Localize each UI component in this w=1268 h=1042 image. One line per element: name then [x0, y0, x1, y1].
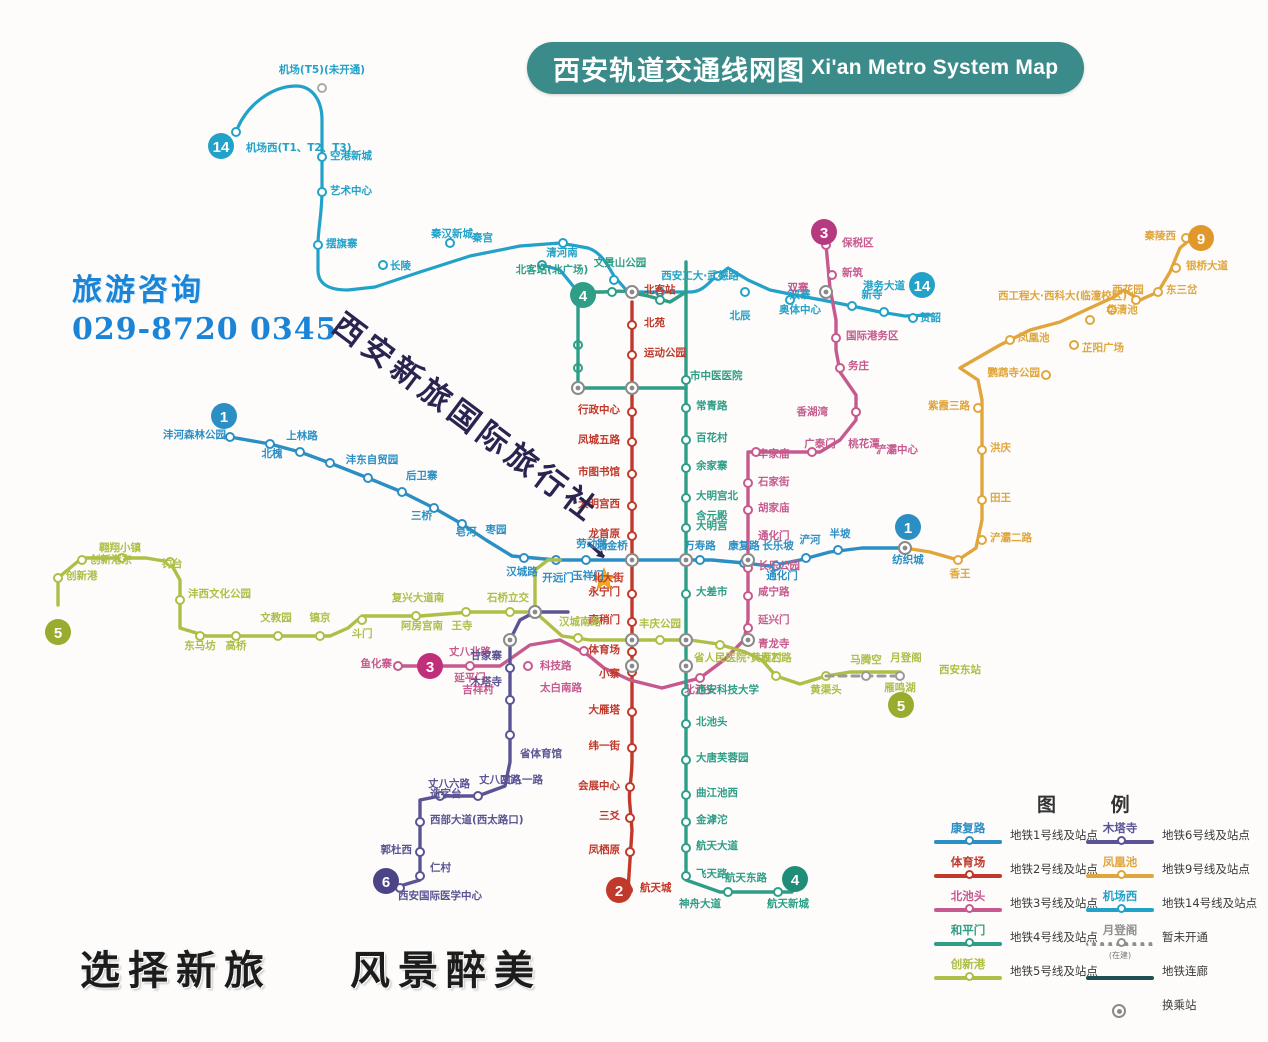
station-label: 雁鸣湖 — [840, 683, 960, 694]
station-label: 北苑 — [644, 318, 665, 329]
station-label: 曲江池西 — [696, 788, 738, 799]
station-label: 半坡 — [780, 529, 900, 540]
legend-sample-station-name: 月登阁 — [1084, 922, 1156, 938]
station-label: 浐灞二路 — [990, 533, 1032, 544]
map-title-en: Xi'an Metro System Map — [811, 56, 1058, 80]
station-label: 含元殿 — [696, 511, 728, 522]
station-label: 三爻 — [0, 811, 620, 822]
legend-station-dot — [965, 972, 974, 981]
station-label: 银桥大道 — [1186, 261, 1228, 272]
legend-line-sample: 北池头 — [932, 886, 1004, 920]
station-label: 丈八一路 — [462, 775, 582, 786]
station-label: 造字台 — [430, 789, 462, 800]
legend-description: 地铁连廊 — [1162, 963, 1208, 979]
station-label: 余家寨 — [696, 461, 728, 472]
station-label: 郭杜西 — [0, 845, 412, 856]
station-label: 大明宫北 — [696, 491, 738, 502]
station-label: 奥体中心 — [740, 305, 860, 316]
station-label: 秦陵西 — [0, 231, 1176, 242]
station-label: 航天城 — [640, 883, 672, 894]
legend-line-sample: 和平门 — [932, 920, 1004, 954]
station-label: 青龙寺 — [758, 639, 790, 650]
station-label: 太白南路 — [540, 683, 582, 694]
legend-row: 和平门地铁4号线及站点 — [932, 920, 1098, 954]
station-label: 贺韶 — [920, 313, 941, 324]
station-label: 沣西文化公园 — [188, 589, 251, 600]
station-label: 北池头 — [696, 717, 728, 728]
legend-row: 木塔寺地铁6号线及站点 — [1084, 818, 1257, 852]
legend-row: 换乘站 — [1084, 988, 1257, 1022]
station-label: 西安东站 — [900, 665, 1020, 676]
station-label: 胡家庙 — [758, 503, 790, 514]
legend-line-sample: 月登阁(在建) — [1084, 920, 1156, 954]
legend-description: 暂未开通 — [1162, 929, 1208, 945]
legend-description: 地铁14号线及站点 — [1162, 895, 1257, 911]
station-label: 东三岔 — [1166, 285, 1198, 296]
station-label: 科技路 — [540, 661, 572, 672]
station-label: 艺术中心 — [330, 186, 372, 197]
station-label: 大明宫西 — [0, 499, 620, 510]
station-label: 鹦鹉寺公园 — [0, 368, 1040, 379]
station-label: 龙首原 — [0, 529, 620, 540]
station-label: 丈八六路 — [0, 779, 470, 790]
station-label: 香王 — [900, 569, 1020, 580]
station-label: 钓台 — [112, 559, 232, 570]
station-label: 国际港务区 — [846, 331, 899, 342]
station-label: 纺织城 — [848, 555, 968, 566]
legend-station-dot — [1117, 836, 1126, 845]
legend-line-sample: 创新港 — [932, 954, 1004, 988]
legend-line-sample: 木塔寺 — [1084, 818, 1156, 852]
legend-row: 月登阁(在建)暂未开通 — [1084, 920, 1257, 954]
station-label: 航天大道 — [696, 841, 738, 852]
legend-row: 康复路地铁1号线及站点 — [932, 818, 1098, 852]
station-label: 通化门 — [758, 531, 790, 542]
station-label: 省体育馆 — [520, 749, 562, 760]
legend-sample-station-name: 和平门 — [932, 922, 1004, 938]
legend-column-left: 康复路地铁1号线及站点体育场地铁2号线及站点北池头地铁3号线及站点和平门地铁4号… — [932, 818, 1098, 988]
station-label: 机场(T5)(未开通) — [262, 65, 382, 76]
station-label: 通化门 — [722, 571, 842, 582]
legend-line-sample: 凤凰池 — [1084, 852, 1156, 886]
legend-station-dot — [1117, 904, 1126, 913]
station-label: 航天新城 — [728, 899, 848, 910]
transfer-station-icon — [1112, 1004, 1126, 1018]
station-label: 仁村 — [430, 863, 451, 874]
station-label: 延兴门 — [758, 615, 790, 626]
legend-description: 地铁9号线及站点 — [1162, 861, 1250, 877]
station-label: 北大街 — [548, 573, 668, 584]
tourist-info-label: 旅游咨询 — [72, 265, 338, 309]
legend-line-sample: 机场西 — [1084, 886, 1156, 920]
legend-row: 地铁连廊 — [1084, 954, 1257, 988]
station-label: 木塔寺 — [0, 677, 502, 688]
legend-row: 机场西地铁14号线及站点 — [1084, 886, 1257, 920]
station-label: 洪庆 — [990, 443, 1011, 454]
station-label: 文景山公园 — [560, 258, 680, 269]
station-label: 甘家寨 — [0, 651, 502, 662]
station-label: 凤凰池 — [1018, 333, 1050, 344]
legend-station-dot — [965, 904, 974, 913]
station-label: 航天东路 — [686, 873, 806, 884]
station-label: 石家街 — [758, 477, 790, 488]
legend-sample-station-name: 机场西 — [1084, 888, 1156, 904]
legend-station-dot — [965, 870, 974, 879]
station-label: 双寨 — [738, 283, 858, 294]
station-label: 大唐芙蓉园 — [696, 753, 749, 764]
station-label: 大明宫 — [696, 521, 728, 532]
legend-sample-station-name: 北池头 — [932, 888, 1004, 904]
legend-line-sample — [1084, 954, 1156, 988]
legend-row: 凤凰池地铁9号线及站点 — [1084, 852, 1257, 886]
legend-sample-station-name: 凤凰池 — [1084, 854, 1156, 870]
station-label: 空港新城 — [330, 151, 372, 162]
tourist-info-block: 旅游咨询 029-8720 0345 — [72, 265, 338, 347]
station-label: 阿房宫南 — [362, 621, 482, 632]
legend-row: 创新港地铁5号线及站点 — [932, 954, 1098, 988]
legend-description: 换乘站 — [1162, 997, 1197, 1013]
slogan-right: 风景醉美 — [350, 938, 542, 996]
station-label: 三桥 — [0, 511, 432, 522]
legend-station-dot — [1117, 870, 1126, 879]
station-label: 辛家庙 — [758, 449, 790, 460]
legend-description: 地铁6号线及站点 — [1162, 827, 1250, 843]
legend-line-sample — [1084, 988, 1156, 1022]
station-label: 西安工大·武德路 — [640, 271, 760, 282]
station-label: 运动公园 — [644, 348, 686, 359]
legend-sample-station-name: 体育场 — [932, 854, 1004, 870]
station-label: 月登阁 — [846, 653, 966, 664]
station-label: 沣东自贸园 — [312, 455, 432, 466]
station-label: 西安科技大学 — [696, 685, 759, 696]
station-label: 石桥立交 — [448, 593, 568, 604]
legend-row: 体育场地铁2号线及站点 — [932, 852, 1098, 886]
legend-column-right: 木塔寺地铁6号线及站点凤凰池地铁9号线及站点机场西地铁14号线及站点月登阁(在建… — [1084, 818, 1257, 1022]
station-label: 西部大道(西太路口) — [430, 815, 524, 826]
station-label: 金滹沱 — [696, 815, 728, 826]
station-label: 创新港 — [66, 571, 98, 582]
tourist-info-phone: 029-8720 0345 — [72, 312, 338, 347]
station-label: 华清池 — [1062, 305, 1182, 316]
station-label: 大雁塔 — [0, 705, 620, 716]
legend-title: 图 例 — [1037, 790, 1154, 817]
legend-line-swatch — [1086, 976, 1154, 980]
station-label: 百花村 — [696, 433, 728, 444]
station-label: 芷阳广场 — [1082, 343, 1124, 354]
station-label: 翱翔小镇 — [60, 543, 180, 554]
legend-line-sample: 体育场 — [932, 852, 1004, 886]
line-9-stations — [954, 234, 1190, 564]
legend-sample-station-name: 康复路 — [932, 820, 1004, 836]
station-label: 浐灞中心 — [876, 445, 918, 456]
station-label: 北客站 — [644, 285, 676, 296]
legend-panel: 图 例 康复路地铁1号线及站点体育场地铁2号线及站点北池头地铁3号线及站点和平门… — [932, 790, 1262, 1015]
station-label: 西安国际医学中心 — [380, 891, 500, 902]
legend-station-dot — [1117, 938, 1126, 947]
station-label: 丰庆公园 — [600, 619, 720, 630]
map-title-cn: 西安轨道交通线网图 — [553, 49, 805, 88]
station-label: 长乐公园 — [758, 561, 800, 572]
station-label: 田王 — [990, 493, 1011, 504]
legend-sample-station-name: 创新港 — [932, 956, 1004, 972]
legend-line-sample: 康复路 — [932, 818, 1004, 852]
station-label: 新筑 — [842, 268, 863, 279]
metro-map-root: .ln{fill:none;stroke-linecap:round;strok… — [0, 0, 1268, 1042]
station-label: 长陵 — [390, 261, 411, 272]
station-label: 咸宁路 — [758, 587, 790, 598]
map-title-banner: 西安轨道交通线网图 Xi'an Metro System Map — [527, 42, 1084, 94]
station-label: 大差市 — [696, 587, 728, 598]
legend-station-dot — [965, 836, 974, 845]
slogan-left: 选择新旅 — [80, 938, 272, 996]
legend-station-dot — [965, 938, 974, 947]
legend-sample-station-name: 木塔寺 — [1084, 820, 1156, 836]
legend-row: 北池头地铁3号线及站点 — [932, 886, 1098, 920]
